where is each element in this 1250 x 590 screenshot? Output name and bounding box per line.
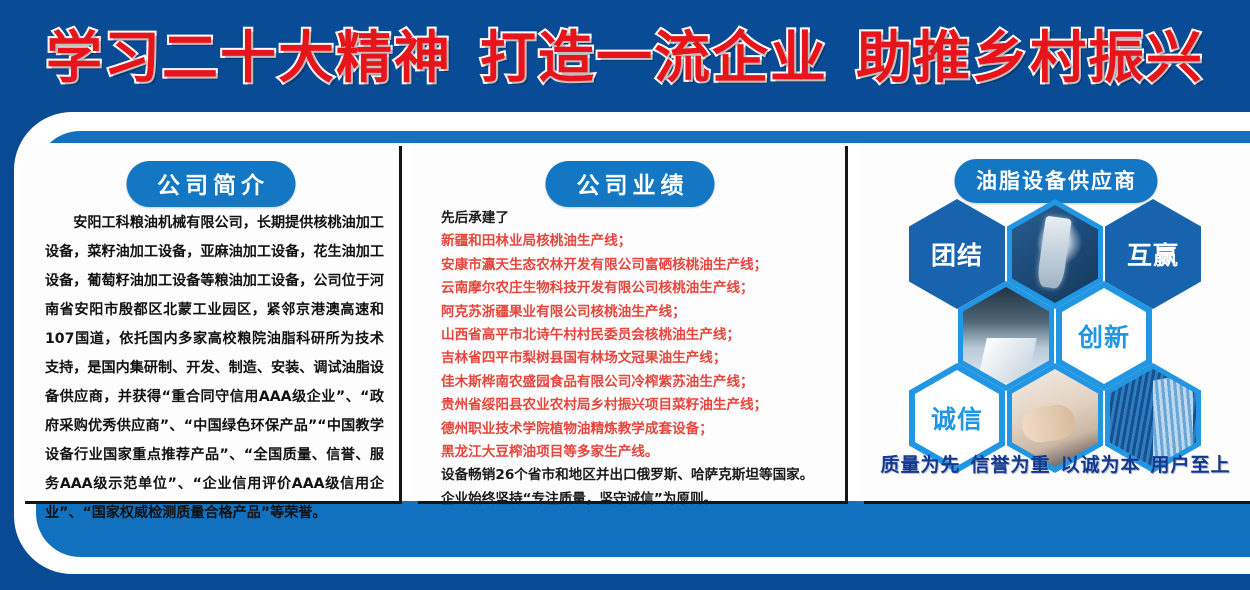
project-line: 云南摩尔农庄生物科技开发有限公司核桃油生产线； [441, 277, 831, 300]
achievements-intro: 先后承建了 [441, 207, 831, 230]
project-line: 阿克苏浙疆果业有限公司核桃油生产线； [441, 301, 831, 324]
hex-label-chengxin: 诚信 [931, 400, 983, 436]
achievements-footer-group: 设备畅销26个省市和地区并出口俄罗斯、哈萨克斯坦等国家。企业始终坚持“专注质量，… [441, 464, 831, 511]
hex-label-tuanjie: 团结 [931, 236, 983, 272]
poster-canvas: 学习二十大精神打造一流企业助推乡村振兴 公司简介 安阳工科粮油机械有限公司，长期… [0, 0, 1250, 590]
title-part-3: 助推乡村振兴 [842, 13, 1218, 94]
project-line: 吉林省四平市梨树县国有林场文冠果油生产线； [441, 347, 831, 370]
panel-company-intro: 公司简介 安阳工科粮油机械有限公司，长期提供核桃油加工设备，菜籽油加工设备，亚麻… [22, 143, 399, 501]
achievements-footer-line: 设备畅销26个省市和地区并出口俄罗斯、哈萨克斯坦等国家。 [441, 464, 831, 487]
project-line: 黑龙江大豆榨油项目等多家生产线。 [441, 441, 831, 464]
project-line: 德州职业技术学院植物油精炼教学成套设备； [441, 418, 831, 441]
hex-inner: 创新 [1062, 288, 1146, 384]
project-line: 佳木斯桦南农盛园食品有限公司冷榨紫苏油生产线； [441, 371, 831, 394]
supplier-slogan: 质量为先信誉为重以诚为本用户至上 [861, 450, 1250, 477]
achievements-footer-line: 企业始终坚持“专注质量，坚守诚信”为原则。 [441, 488, 831, 511]
company-intro-text: 安阳工科粮油机械有限公司，长期提供核桃油加工设备，菜籽油加工设备，亚麻油加工设备… [45, 209, 384, 528]
rocket-launch-icon [963, 287, 1049, 385]
hex-label-huying: 互赢 [1127, 236, 1179, 272]
panel-company-achievements: 公司业绩 先后承建了 新疆和田林业局核桃油生产线；安康市瀛天生态农林开发有限公司… [415, 143, 845, 501]
project-line: 贵州省绥阳县农业农村局乡村振兴项目菜籽油生产线； [441, 394, 831, 417]
slogan-part: 信誉为重 [965, 454, 1055, 476]
project-line: 山西省高平市北诗午村村民委员会核桃油生产线； [441, 324, 831, 347]
hex-label-chuangxin: 创新 [1078, 318, 1130, 354]
header-banner: 学习二十大精神打造一流企业助推乡村振兴 [0, 0, 1250, 106]
aircraft-carrier-icon [1012, 205, 1098, 303]
achievements-list: 先后承建了 新疆和田林业局核桃油生产线；安康市瀛天生态农林开发有限公司富硒核桃油… [441, 207, 831, 511]
badge-company-achievements: 公司业绩 [546, 161, 715, 207]
project-line-group: 新疆和田林业局核桃油生产线；安康市瀛天生态农林开发有限公司富硒核桃油生产线；云南… [441, 230, 831, 464]
project-line: 安康市瀛天生态农林开发有限公司富硒核桃油生产线； [441, 254, 831, 277]
badge-company-intro: 公司简介 [126, 161, 295, 207]
title-part-2: 打造一流企业 [466, 13, 842, 94]
slogan-part: 用户至上 [1146, 454, 1236, 476]
slogan-part: 质量为先 [875, 454, 965, 476]
page-title: 学习二十大精神打造一流企业助推乡村振兴 [32, 13, 1218, 94]
project-line: 新疆和田林业局核桃油生产线； [441, 230, 831, 253]
slogan-part: 以诚为本 [1056, 454, 1146, 476]
hexagon-cluster: 团结 互赢 创新 诚信 [861, 193, 1250, 451]
title-part-1: 学习二十大精神 [32, 13, 466, 94]
panel-supplier-values: 油脂设备供应商 团结 互赢 创新 [861, 143, 1250, 501]
